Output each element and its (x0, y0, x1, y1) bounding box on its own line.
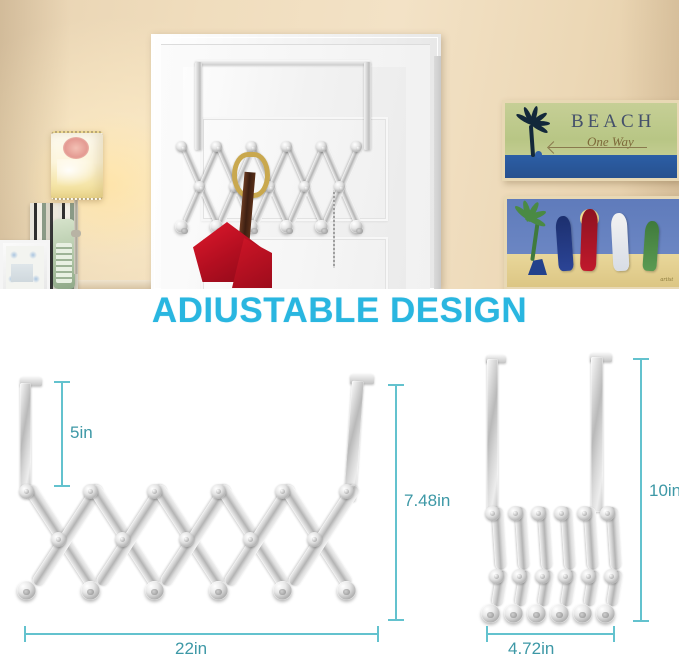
surfboard-icon (610, 213, 629, 272)
rack-joint-photo (316, 141, 327, 152)
lattice-center-joint (51, 532, 66, 547)
rack-joint-photo (281, 141, 292, 152)
rack-hook-photo (280, 220, 293, 233)
collapsed-hook-knob (504, 604, 523, 623)
lattice-top-joint (19, 484, 34, 499)
lattice-center-joint (307, 532, 322, 547)
surfboard-art: artist (504, 196, 679, 289)
collapsed-top-joint (577, 506, 592, 521)
coat-hook-knob (273, 581, 292, 600)
coconut-icon (535, 151, 542, 158)
dim-472in-line (487, 633, 614, 635)
collapsed-hook-knob (573, 604, 592, 623)
lattice-top-joint (83, 484, 98, 499)
collapsed-hook-knob (527, 604, 546, 623)
art-signature: artist (660, 277, 673, 283)
beach-art-sea (505, 155, 677, 178)
title-band: ADIUSTABLE DESIGN (0, 289, 679, 341)
necklace-chain (333, 190, 335, 268)
frame-mat (6, 246, 44, 289)
collapsed-hook-knob (481, 604, 500, 623)
expanded-rack-diagram: 5in 7.48in 22in (0, 341, 430, 667)
rack-hook-photo (175, 220, 188, 233)
palm-tree-leaves-icon (514, 112, 552, 134)
collapsed-center-joint (604, 569, 619, 584)
collapsed-center-joint (512, 569, 527, 584)
collapsed-hook-knob (596, 604, 615, 623)
dim-10in-label: 10in (649, 481, 679, 501)
collapsed-center-joint (535, 569, 550, 584)
rack-top-bar-photo (195, 60, 371, 65)
lattice-top-joint (211, 484, 226, 499)
lattice-center-joint (115, 532, 130, 547)
lifestyle-photo: BEACH One Way artist (0, 0, 679, 289)
lamp-switch (71, 230, 81, 237)
rack-hook-photo (315, 220, 328, 233)
collapsed-top-joint (508, 506, 523, 521)
coat-hook-knob (337, 581, 356, 600)
rack-center-joint-photo (299, 181, 310, 192)
collapsed-top-joint (554, 506, 569, 521)
collapsed-rack-diagram: 10in 4.72in (430, 341, 679, 667)
rack-center-joint-photo (194, 181, 205, 192)
collapsed-center-joint (581, 569, 596, 584)
lattice-center-joint (243, 532, 258, 547)
lamp-shade (51, 131, 103, 200)
coat-hook-knob (17, 581, 36, 600)
frame-photo (11, 264, 33, 282)
collapsed-center-joint (489, 569, 504, 584)
collapsed-center-joint (558, 569, 573, 584)
dim-22in-label: 22in (175, 639, 207, 659)
dim-5in-label: 5in (70, 423, 93, 443)
dimension-diagrams: 5in 7.48in 22in 10in 4.72in (0, 341, 679, 667)
dim-5in-line (61, 382, 63, 485)
left-over-door-bracket (20, 383, 31, 488)
dim-22in-cap-right (377, 626, 379, 642)
surfboard-icon (580, 209, 598, 272)
picture-frame (0, 240, 50, 289)
rack-center-joint-photo (334, 181, 345, 192)
right-over-door-bracket-collapsed (591, 357, 603, 512)
rack-joint-photo (211, 141, 222, 152)
phone-keypad (56, 243, 72, 283)
rack-right-strap-photo (364, 62, 371, 150)
rack-hook-photo (350, 220, 363, 233)
collapsed-top-joint (485, 506, 500, 521)
rack-joint-photo (176, 141, 187, 152)
collapsed-top-joint (531, 506, 546, 521)
collapsed-top-joint (600, 506, 615, 521)
rack-joint-photo (246, 141, 257, 152)
dim-472in-cap-right (613, 626, 615, 642)
rack-joint-photo (351, 141, 362, 152)
coat-hook-knob (81, 581, 100, 600)
page-title: ADIUSTABLE DESIGN (0, 291, 679, 331)
left-over-door-bracket-collapsed (487, 359, 498, 509)
lattice-top-joint (147, 484, 162, 499)
left-arrow-icon (549, 147, 647, 148)
beach-sign-art: BEACH One Way (502, 100, 679, 181)
product-image: BEACH One Way artist ADIUSTABLE DESIGN 5… (0, 0, 679, 667)
lattice-top-joint (275, 484, 290, 499)
lattice-center-joint (179, 532, 194, 547)
coat-hook-knob (209, 581, 228, 600)
dim-5in-cap-bottom (54, 485, 70, 487)
rack-left-strap-photo (195, 62, 202, 150)
lattice-top-joint (339, 484, 354, 499)
dim-22in-line (25, 633, 378, 635)
dim-10in-line (640, 359, 642, 620)
collapsed-hook-knob (550, 604, 569, 623)
dim-748in-line (395, 385, 397, 619)
dim-10in-cap-bottom (633, 620, 649, 622)
lamp-shade-pattern (63, 137, 89, 159)
dim-748in-cap-bottom (388, 619, 404, 621)
lamp-shade-highlight (57, 159, 97, 187)
coat-hook-knob (145, 581, 164, 600)
dim-472in-label: 4.72in (508, 639, 554, 659)
expanded-rack-art (0, 341, 430, 667)
beach-art-title: BEACH (571, 111, 655, 133)
